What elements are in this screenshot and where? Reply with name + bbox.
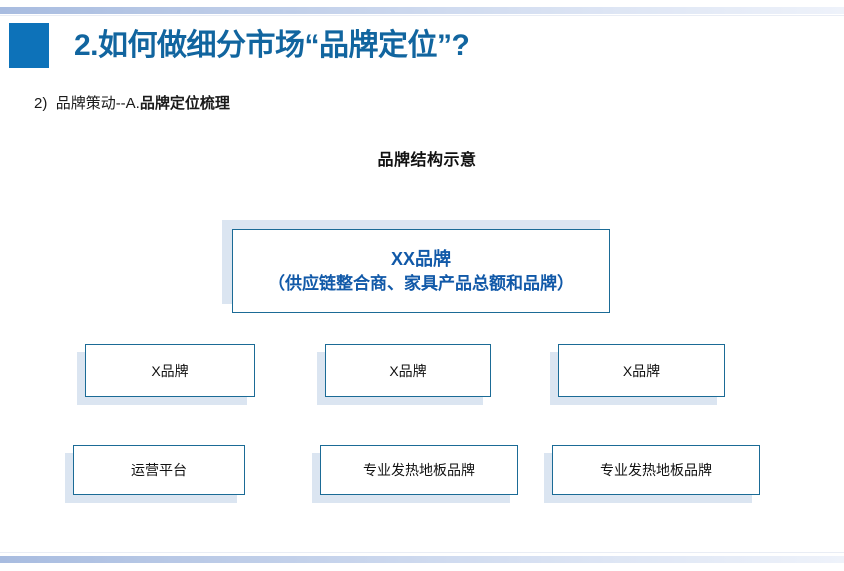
tier3-node-3[interactable]: 专业发热地板品牌 bbox=[552, 445, 760, 495]
node-root-brand[interactable]: XX品牌 （供应链整合商、家具产品总额和品牌） bbox=[232, 229, 610, 313]
root-node-label-line2: （供应链整合商、家具产品总额和品牌） bbox=[268, 272, 574, 297]
tier3-node-1-label: 运营平台 bbox=[131, 460, 187, 480]
tier2-node-1-label: X品牌 bbox=[151, 361, 188, 381]
tier2-node-2[interactable]: X品牌 bbox=[325, 344, 491, 397]
tier2-node-2-label: X品牌 bbox=[389, 361, 426, 381]
tier3-node-2[interactable]: 专业发热地板品牌 bbox=[320, 445, 518, 495]
root-node-label: XX品牌 （供应链整合商、家具产品总额和品牌） bbox=[268, 246, 574, 297]
tier3-node-2-label: 专业发热地板品牌 bbox=[363, 460, 475, 480]
diagram-title-text: 品牌结构示意 bbox=[377, 146, 476, 170]
root-node-label-line1: XX品牌 bbox=[268, 246, 574, 272]
tier2-node-3[interactable]: X品牌 bbox=[558, 344, 725, 397]
tier2-node-1[interactable]: X品牌 bbox=[85, 344, 255, 397]
diagram-title: 品牌结构示意 bbox=[0, 146, 844, 170]
tier2-node-3-label: X品牌 bbox=[623, 361, 660, 381]
tier3-node-3-label: 专业发热地板品牌 bbox=[600, 460, 712, 480]
tier3-node-1[interactable]: 运营平台 bbox=[73, 445, 245, 495]
brand-structure-diagram: 品牌结构示意 XX品牌 （供应链整合商、家具产品总额和品牌） X品牌 X品牌 X… bbox=[0, 0, 844, 571]
